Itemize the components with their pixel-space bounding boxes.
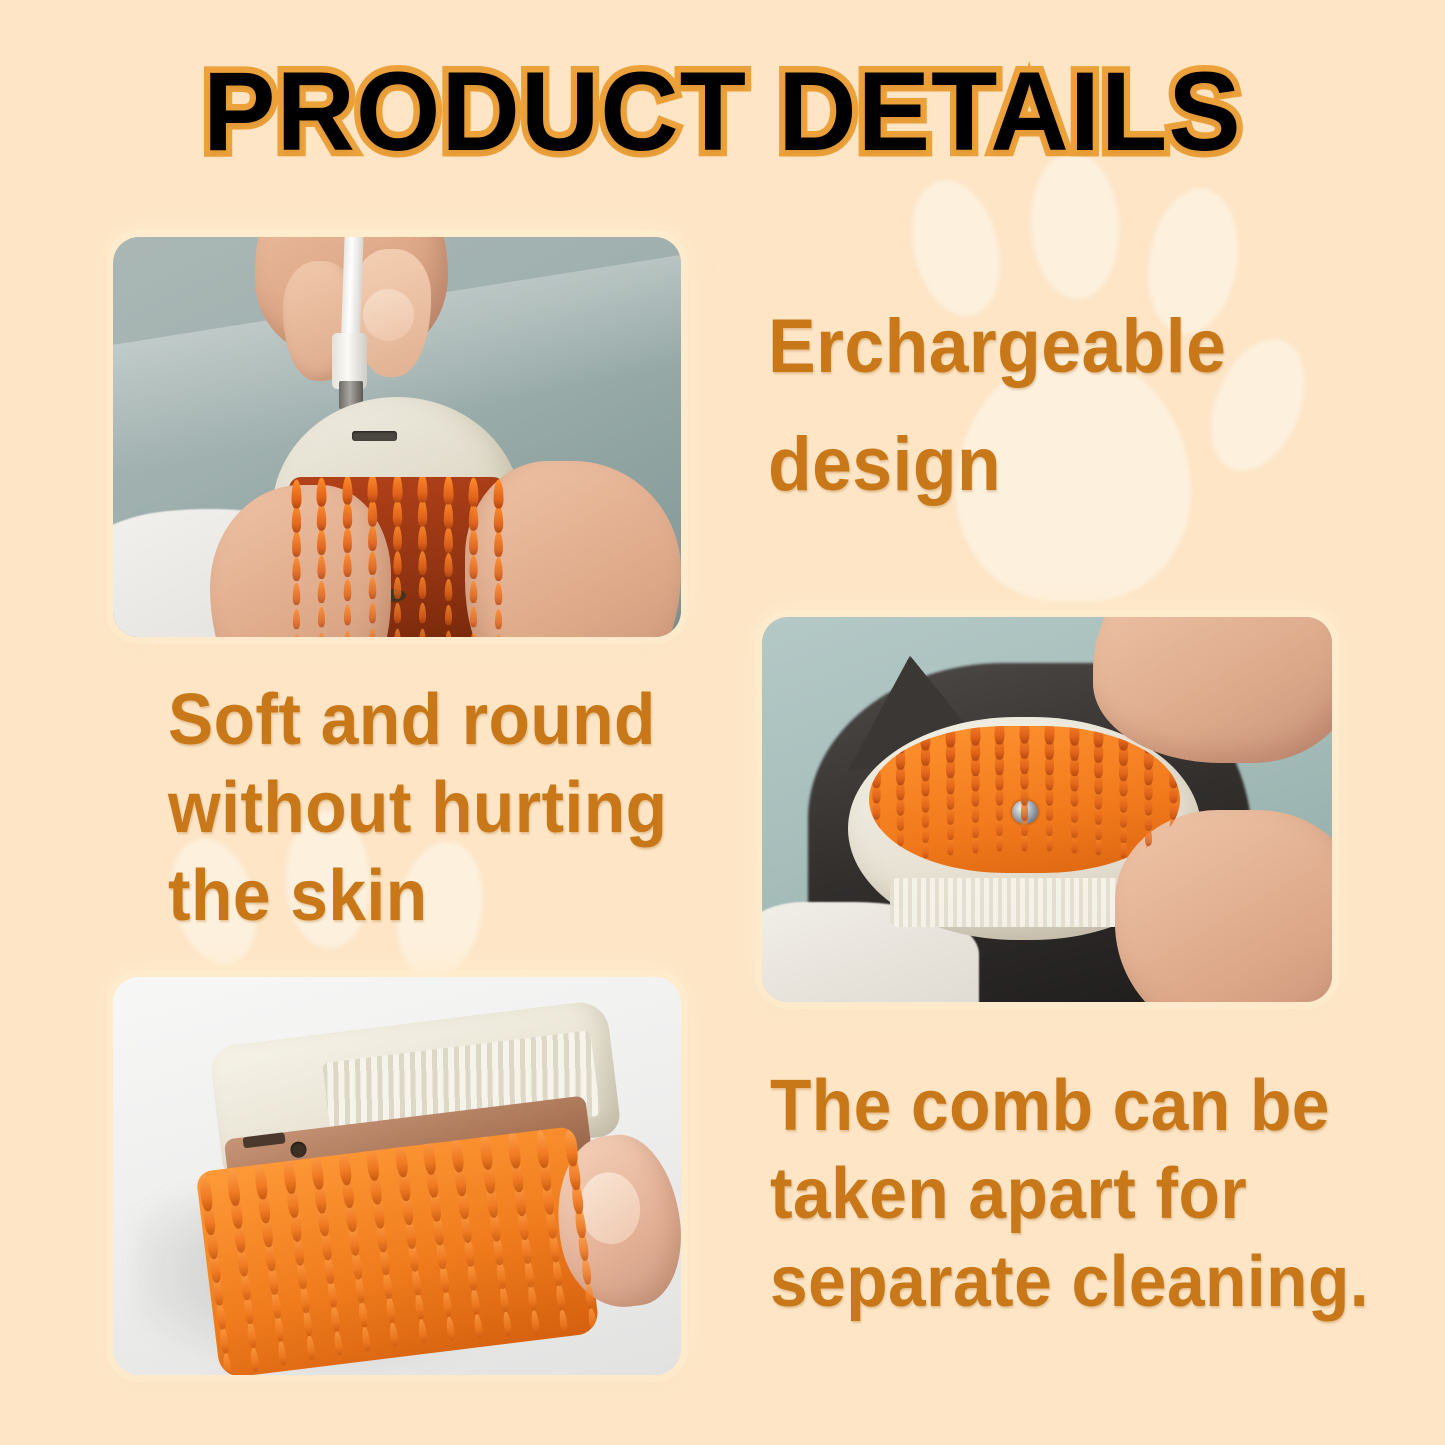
photo1-background: [113, 237, 681, 637]
bristle: [418, 500, 427, 527]
page-title-wrapper: PRODUCT DETAILS: [0, 56, 1445, 168]
bristle: [414, 1292, 425, 1319]
bristle: [333, 1330, 343, 1355]
fingernail: [363, 289, 414, 341]
bristle: [368, 551, 376, 575]
bristle: [419, 603, 426, 624]
photo2-background: [762, 617, 1332, 1002]
bristle: [470, 1287, 481, 1314]
bristle: [343, 553, 351, 577]
page-title: PRODUCT DETAILS: [203, 56, 1242, 168]
caption-rechargeable: Erchargeable design: [768, 288, 1226, 524]
bristle: [970, 726, 980, 745]
bristle: [393, 499, 402, 526]
bristle: [499, 1285, 510, 1312]
bristle: [222, 1352, 232, 1375]
bristle: [369, 603, 376, 624]
bristle: [995, 726, 1005, 744]
bristle: [367, 477, 377, 503]
bristle: [281, 1156, 297, 1195]
bristle: [250, 1346, 260, 1371]
bristle: [470, 606, 477, 627]
disassembled-brush-photo: [113, 977, 681, 1375]
bristle: [302, 1310, 313, 1337]
bristle: [344, 604, 351, 625]
bristle: [274, 1315, 285, 1342]
brushing-cat-photo: [762, 617, 1332, 1002]
bristle: [393, 477, 403, 503]
bristle: [535, 1129, 551, 1168]
bristle: [945, 726, 955, 748]
bristle: [445, 604, 452, 625]
bristle: [393, 551, 401, 575]
bristle: [417, 1318, 427, 1343]
bristle: [342, 501, 351, 528]
bristle: [369, 577, 377, 599]
usb-charging-photo: [113, 237, 681, 637]
bristle: [896, 726, 906, 754]
bristle: [469, 529, 478, 555]
charging-port: [352, 431, 397, 441]
bristle: [555, 1283, 566, 1310]
bristle: [218, 1326, 229, 1353]
bristle: [361, 1326, 371, 1351]
bristle: [394, 603, 401, 624]
bristle: [530, 1310, 540, 1335]
bristle: [443, 477, 453, 504]
bristle: [446, 1315, 456, 1340]
bristle: [1044, 726, 1054, 744]
bristle: [343, 579, 351, 601]
infographic-canvas: PRODUCT DETAILS Erchargeable design: [0, 0, 1445, 1445]
bristle: [502, 1311, 512, 1336]
bristle-plate: [289, 477, 505, 637]
disassembled-device: [161, 990, 667, 1375]
bristle: [198, 1173, 214, 1212]
bristle: [1094, 726, 1104, 748]
bristle: [444, 527, 453, 553]
bristle: [394, 629, 400, 637]
bristle: [394, 577, 402, 599]
bristle: [469, 503, 478, 530]
caption-soft-bristles: Soft and round without hurting the skin: [168, 676, 667, 940]
bristle: [368, 526, 377, 552]
bristle: [317, 477, 327, 506]
bristle: [386, 1296, 397, 1323]
bristle: [1119, 726, 1129, 751]
bristle: [443, 501, 452, 528]
bristle: [527, 1284, 538, 1311]
bristle: [444, 579, 452, 601]
bristle: [1069, 726, 1079, 745]
bristle-grid: [289, 477, 505, 637]
bristle: [305, 1335, 315, 1360]
bristle: [368, 500, 377, 527]
bristle: [442, 1290, 453, 1317]
bristle: [418, 526, 427, 552]
bristle: [393, 525, 402, 551]
caption-detachable-comb: The comb can be taken apart for separate…: [770, 1062, 1369, 1326]
bristle: [559, 1308, 569, 1333]
bristle: [358, 1300, 369, 1327]
bristle: [469, 555, 477, 579]
bristle: [921, 726, 931, 751]
shell-grip-ribs: [890, 878, 1123, 927]
bristle: [330, 1305, 341, 1332]
bristle: [419, 551, 427, 575]
bristle: [419, 577, 427, 599]
bristle: [292, 479, 302, 508]
bristle: [478, 1131, 494, 1170]
bristle: [418, 477, 428, 503]
bristle: [470, 581, 478, 603]
bristle: [506, 1130, 522, 1169]
bristle: [342, 477, 352, 504]
bristle: [871, 728, 881, 757]
bristle: [420, 629, 426, 637]
bristle: [587, 1307, 597, 1332]
bristle: [1168, 728, 1178, 757]
bristle: [444, 553, 452, 577]
bristle: [343, 527, 352, 553]
bristle: [254, 1161, 270, 1200]
bristle: [389, 1322, 399, 1347]
bristle: [474, 1313, 484, 1338]
bristle: [468, 477, 478, 506]
bristle: [445, 630, 451, 637]
bristle: [1143, 726, 1153, 754]
bristle: [278, 1341, 288, 1366]
bristle: [226, 1167, 242, 1206]
bristle: [246, 1321, 257, 1348]
photo3-background: [113, 977, 681, 1375]
bristle: [1020, 726, 1030, 744]
